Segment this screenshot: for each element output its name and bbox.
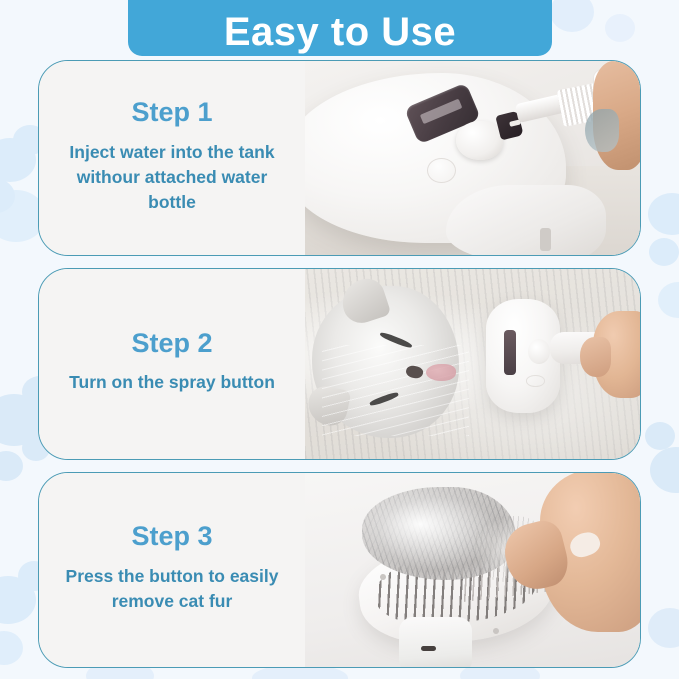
step-2-description: Turn on the spray button (69, 370, 275, 395)
step-1-label: Step 1 (131, 98, 212, 126)
paw-group-right-lower (645, 422, 679, 648)
brush-nozzle-cap (456, 121, 503, 160)
step-1-description: Inject water into the tank withour attac… (60, 140, 285, 215)
hand-holding-brush (593, 311, 640, 398)
step-1-text-panel: Step 1 Inject water into the tank withou… (39, 61, 305, 255)
brush-screw-right (493, 628, 499, 634)
step-card-2: Step 2 Turn on the spray button (38, 268, 641, 460)
brush-spray-slot (504, 330, 516, 376)
cat-mouth (426, 364, 456, 381)
step-3-description: Press the button to easily remove cat fu… (60, 564, 285, 614)
brush-spray-button (528, 339, 550, 364)
page-title: Easy to Use (224, 12, 456, 52)
step-2-text-panel: Step 2 Turn on the spray button (39, 269, 305, 459)
brush-power-button (427, 158, 455, 183)
usb-c-charging-port (421, 646, 436, 651)
brush-handle (446, 185, 607, 255)
brush-neck (399, 617, 473, 667)
step-2-label: Step 2 (131, 329, 212, 357)
cat-whiskers (322, 345, 469, 436)
step-card-3: Step 3 Press the button to easily remove… (38, 472, 641, 668)
step-3-text-panel: Step 3 Press the button to easily remove… (39, 473, 305, 667)
step-card-1: Step 1 Inject water into the tank withou… (38, 60, 641, 256)
step-1-photo-brush-filled-with-water-bottle (305, 61, 640, 255)
hand-holding-bottle (593, 61, 640, 170)
step-3-label: Step 3 (131, 522, 212, 550)
brush-handle-slot (540, 228, 552, 251)
paw-group-right-mid (648, 193, 679, 318)
brush-button-marking (526, 375, 544, 386)
paw-group-right-top (550, 0, 635, 42)
step-3-photo-removing-fur-from-brush (305, 473, 640, 667)
step-2-photo-cat-being-brushed (305, 269, 640, 459)
header-banner: Easy to Use (128, 0, 552, 56)
